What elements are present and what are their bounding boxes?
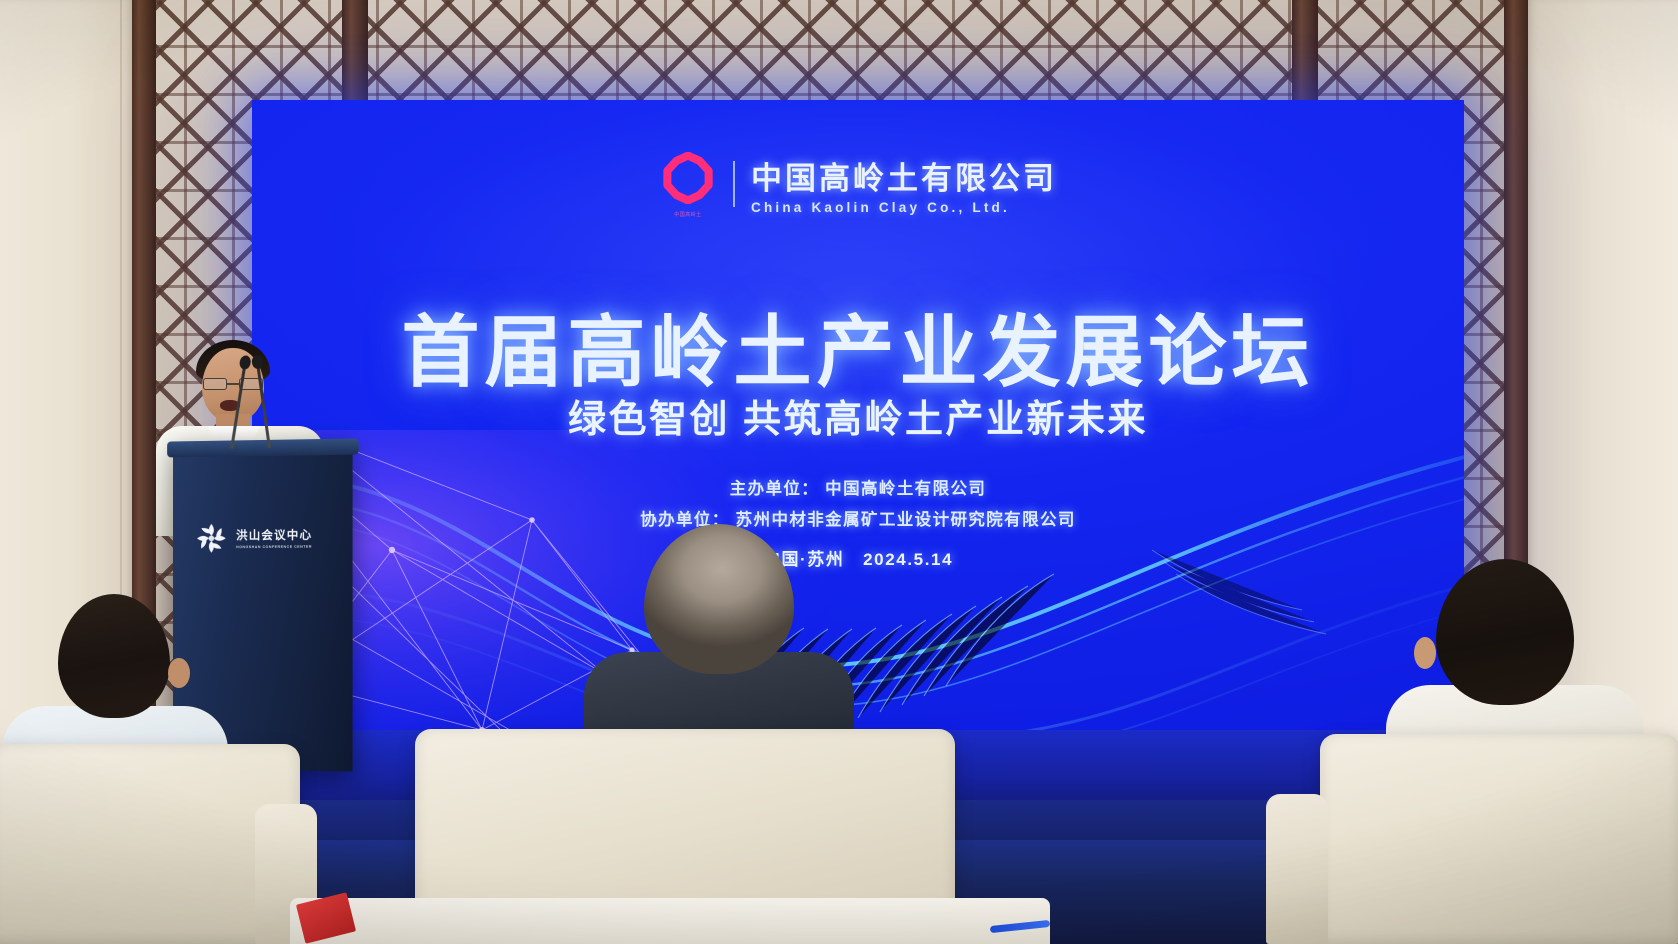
company-name-en: China Kaolin Clay Co., Ltd. bbox=[751, 200, 1057, 215]
place-and-date: 中国·苏州 2024.5.14 bbox=[252, 545, 1464, 570]
led-presentation-screen: 中国高岭土 中国高岭土有限公司 China Kaolin Clay Co., L… bbox=[252, 100, 1464, 730]
audience-left-ear bbox=[168, 658, 190, 688]
logo-mark-caption: 中国高岭土 bbox=[659, 211, 717, 218]
company-name-cn: 中国高岭土有限公司 bbox=[751, 153, 1057, 198]
audience-right-head bbox=[1436, 559, 1574, 705]
logo-text-block: 中国高岭土有限公司 China Kaolin Clay Co., Ltd. bbox=[751, 153, 1057, 215]
conference-photo: 中国高岭土 中国高岭土有限公司 China Kaolin Clay Co., L… bbox=[0, 0, 1678, 944]
logo-divider bbox=[733, 161, 735, 207]
screen-logo-row: 中国高岭土 中国高岭土有限公司 China Kaolin Clay Co., L… bbox=[252, 152, 1464, 216]
armchair bbox=[1320, 734, 1678, 944]
armchair-arm bbox=[1266, 794, 1328, 944]
audience-right-ear bbox=[1414, 637, 1436, 669]
forum-title-sub: 绿色智创 共筑高岭土产业新未来 bbox=[252, 388, 1464, 443]
forum-title-main: 首届高岭土产业发展论坛 bbox=[252, 290, 1464, 402]
venue-name-en: HONGSHAN CONFERENCE CENTER bbox=[236, 545, 312, 549]
lotus-flower-emblem-icon bbox=[195, 521, 229, 555]
podium-emblem-text: 洪山会议中心 HONGSHAN CONFERENCE CENTER bbox=[236, 527, 312, 550]
host-organization: 主办单位： 中国高岭土有限公司 bbox=[252, 475, 1464, 499]
china-kaolin-ring-logo-icon: 中国高岭土 bbox=[659, 152, 717, 216]
podium-emblem: 洪山会议中心 HONGSHAN CONFERENCE CENTER bbox=[195, 521, 313, 556]
audience-member-center bbox=[620, 524, 820, 744]
front-table bbox=[290, 898, 1050, 944]
audience-left-head bbox=[58, 594, 170, 718]
organizer-credits: 主办单位： 中国高岭土有限公司 协办单位： 苏州中材非金属矿工业设计研究院有限公… bbox=[252, 475, 1464, 570]
podium-top-ledge bbox=[167, 438, 359, 457]
eyeglasses-icon bbox=[202, 378, 264, 390]
venue-name-cn: 洪山会议中心 bbox=[236, 527, 312, 544]
audience-center-head bbox=[644, 524, 794, 674]
co-organizer: 协办单位： 苏州中材非金属矿工业设计研究院有限公司 bbox=[252, 506, 1464, 530]
